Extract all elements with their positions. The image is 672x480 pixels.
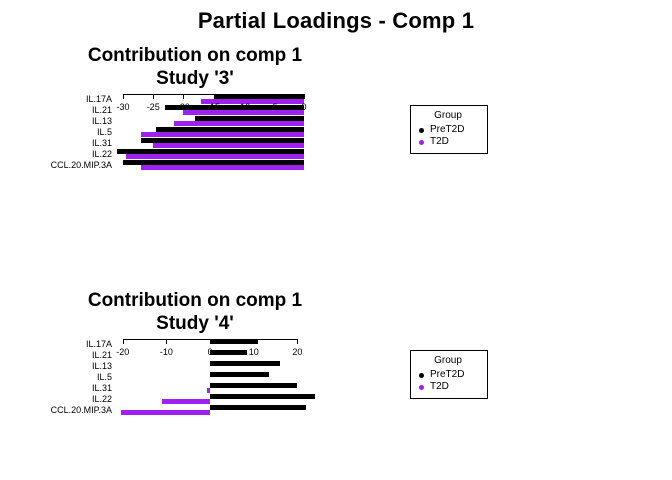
legend-entry-t2d: T2D [419,381,477,393]
chart-2-category-label: IL.13 [0,361,112,372]
chart-2-title-line1: Contribution on comp 1 [88,290,302,311]
chart-1-category-label: IL.31 [0,138,112,149]
bar-segment [126,154,304,159]
chart-2-x-axis: -20-1001020 [114,339,314,365]
chart-1-title: Contribution on comp 1 Study '3' [20,44,370,90]
axis-tick-label: 10 [239,347,269,357]
chart-2-title-line2: Study '4' [20,312,370,335]
axis-tick [214,94,215,99]
chart-2-category-labels: IL.17A IL.21 IL.13 IL.5 IL.31 IL.22 CCL.… [0,339,112,416]
axis-tick [123,94,124,99]
axis-tick [166,339,167,344]
legend-title: Group [419,110,477,121]
chart-1-category-label: IL.13 [0,116,112,127]
chart-2-category-label: CCL.20.MIP.3A [0,405,112,416]
chart-1-category-labels: IL.17A IL.21 IL.13 IL.5 IL.31 IL.22 CCL.… [0,94,112,171]
dot-icon [419,373,424,378]
axis-tick-label: -10 [229,102,259,112]
bar-segment [153,143,304,148]
axis-tick-label: -15 [199,102,229,112]
axis-tick [274,94,275,99]
bar-segment [174,121,304,126]
axis-tick-label: -20 [108,347,138,357]
chart-2-title: Contribution on comp 1 Study '4' [20,289,370,335]
bar-t2d-il.31 [114,143,304,148]
axis-tick [153,94,154,99]
chart-1-category-label: IL.21 [0,105,112,116]
chart-2-plot-area: IL.17A IL.21 IL.13 IL.5 IL.31 IL.22 CCL.… [0,339,400,469]
bar-segment [141,165,304,170]
legend-entry-t2d: T2D [419,136,477,148]
legend-title: Group [419,355,477,366]
chart-2-category-label: IL.17A [0,339,112,350]
legend-entry-label: T2D [430,136,449,148]
bar-segment [121,410,211,415]
legend-entry-label: T2D [430,381,449,393]
legend-entry-label: PreT2D [430,369,464,381]
chart-1-legend: Group PreT2D T2D [410,105,488,154]
legend-entry-pret2d: PreT2D [419,124,477,136]
axis-tick [297,339,298,344]
bar-t2d-il.31 [114,388,304,393]
dot-icon [419,140,424,145]
axis-tick-label: 0 [289,102,319,112]
axis-tick-label: -25 [138,102,168,112]
dot-icon [419,128,424,133]
legend-entry-label: PreT2D [430,124,464,136]
axis-tick [244,94,245,99]
bar-t2d-il.5 [114,377,304,382]
chart-1-category-label: IL.17A [0,94,112,105]
bar-t2d-ccl.20.mip.3a [114,165,304,170]
axis-tick [123,339,124,344]
bar-t2d-il.22 [114,399,304,404]
bar-t2d-il.13 [114,366,304,371]
bar-t2d-ccl.20.mip.3a [114,410,304,415]
chart-1-title-line1: Contribution on comp 1 [88,45,302,66]
page-title: Partial Loadings - Comp 1 [0,8,672,34]
axis-tick [183,94,184,99]
axis-tick-label: -10 [151,347,181,357]
bar-t2d-il.22 [114,154,304,159]
chart-2-category-label: IL.21 [0,350,112,361]
legend-entry-pret2d: PreT2D [419,369,477,381]
chart-1-plot-area: IL.17A IL.21 IL.13 IL.5 IL.31 IL.22 CCL.… [0,94,400,224]
axis-tick-label: -5 [259,102,289,112]
chart-1-category-label: IL.5 [0,127,112,138]
axis-tick [254,339,255,344]
axis-tick [210,339,211,344]
chart-2-category-label: IL.5 [0,372,112,383]
axis-tick-label: -20 [168,102,198,112]
dot-icon [419,385,424,390]
chart-1-category-label: CCL.20.MIP.3A [0,160,112,171]
bar-t2d-il.13 [114,121,304,126]
chart-1-x-axis: -30-25-20-15-10-50 [114,94,314,120]
chart-2-legend: Group PreT2D T2D [410,350,488,399]
axis-tick [304,94,305,99]
bar-segment [162,399,210,404]
chart-2-category-label: IL.31 [0,383,112,394]
chart-1-category-label: IL.22 [0,149,112,160]
bar-segment [207,388,210,393]
chart-2-category-label: IL.22 [0,394,112,405]
axis-tick-label: 0 [195,347,225,357]
chart-1-title-line2: Study '3' [20,67,370,90]
axis-tick-label: -30 [108,102,138,112]
axis-tick-label: 20 [282,347,312,357]
bar-t2d-il.5 [114,132,304,137]
bar-segment [141,132,304,137]
